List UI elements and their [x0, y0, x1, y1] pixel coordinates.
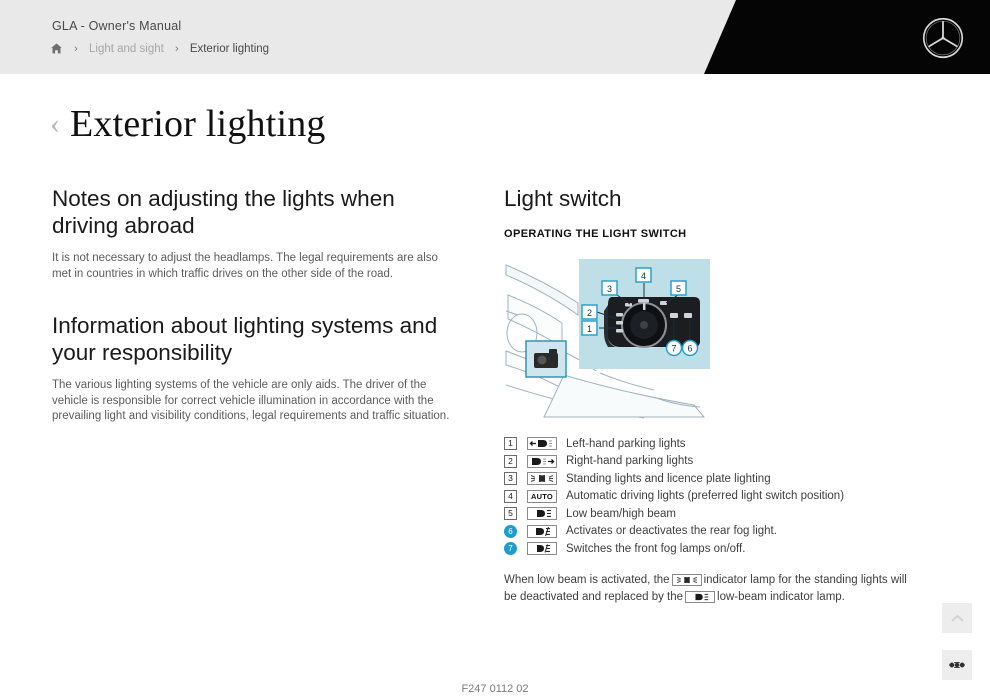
auto-label-icon: AUTO — [527, 490, 557, 503]
page-title: Exterior lighting — [70, 100, 326, 148]
standing-lights-icon — [527, 472, 557, 485]
callout-number-5: 5 — [504, 507, 517, 520]
low-beam-note: When low beam is activated, theindicator… — [504, 572, 914, 606]
callout-number-2: 2 — [504, 455, 517, 468]
legend-label-6: Activates or deactivates the rear fog li… — [566, 525, 777, 537]
feedback-button[interactable] — [942, 650, 972, 680]
left-content-column: Notes on adjusting the lights when drivi… — [52, 185, 454, 425]
legend-label-5: Low beam/high beam — [566, 508, 676, 520]
section-body-responsibility: The various lighting systems of the vehi… — [52, 378, 454, 425]
breadcrumb-item-exterior-lighting[interactable]: Exterior lighting — [190, 43, 269, 55]
left-parking-light-icon — [527, 437, 557, 450]
breadcrumb-separator-1: › — [63, 43, 89, 55]
figure-legend: 1 Left-hand parking lights 2 — [504, 435, 924, 558]
standing-lights-icon — [672, 574, 702, 586]
breadcrumb: › Light and sight › Exterior lighting — [50, 42, 269, 55]
legend-label-3: Standing lights and licence plate lighti… — [566, 473, 771, 485]
manual-page: GLA - Owner's Manual › Light and sight ›… — [0, 0, 990, 700]
svg-text:4: 4 — [641, 271, 646, 281]
home-icon[interactable] — [50, 42, 63, 55]
manual-title: GLA - Owner's Manual — [52, 19, 181, 33]
svg-text:7: 7 — [671, 344, 676, 354]
svg-text:2: 2 — [587, 308, 592, 318]
back-chevron-icon[interactable]: ‹ — [50, 102, 60, 146]
breadcrumb-item-light-and-sight[interactable]: Light and sight — [89, 43, 164, 55]
callout-number-4: 4 — [504, 490, 517, 503]
page-title-row: ‹ Exterior lighting — [50, 100, 326, 148]
subheading-operating-the-light-switch: OPERATING THE LIGHT SWITCH — [504, 228, 924, 240]
front-fog-light-icon — [527, 542, 557, 555]
chevron-up-icon — [951, 614, 964, 623]
legend-item-7: 7 Switches the front fog lamps on/off. — [504, 540, 924, 558]
legend-label-2: Right-hand parking lights — [566, 455, 693, 467]
svg-text:5: 5 — [676, 284, 681, 294]
low-beam-icon — [527, 507, 557, 520]
callout-number-6: 6 — [504, 525, 517, 538]
section-body-driving-abroad: It is not necessary to adjust the headla… — [52, 251, 454, 282]
callout-number-1: 1 — [504, 437, 517, 450]
note-text-part-3: low-beam indicator lamp. — [717, 591, 845, 603]
section-heading-driving-abroad: Notes on adjusting the lights when drivi… — [52, 185, 454, 239]
svg-text:3: 3 — [607, 284, 612, 294]
callout-number-3: 3 — [504, 472, 517, 485]
legend-label-7: Switches the front fog lamps on/off. — [566, 543, 745, 555]
section-heading-light-switch: Light switch — [504, 185, 924, 212]
legend-label-1: Left-hand parking lights — [566, 438, 686, 450]
right-parking-light-icon — [527, 455, 557, 468]
callout-number-7: 7 — [504, 542, 517, 555]
legend-item-6: 6 Activates or deactivates the rear fog … — [504, 523, 924, 541]
svg-text:1: 1 — [587, 324, 592, 334]
right-content-column: Light switch OPERATING THE LIGHT SWITCH — [504, 185, 924, 606]
legend-label-4: Automatic driving lights (preferred ligh… — [566, 490, 844, 502]
breadcrumb-separator-2: › — [164, 43, 190, 55]
legend-item-1: 1 Left-hand parking lights — [504, 435, 924, 453]
legend-item-3: 3 Standing lights and licence plate ligh… — [504, 470, 924, 488]
page-header: GLA - Owner's Manual › Light and sight ›… — [0, 0, 990, 74]
svg-text:6: 6 — [687, 344, 692, 354]
legend-item-4: 4 AUTO Automatic driving lights (preferr… — [504, 488, 924, 506]
glyph-icon — [948, 658, 966, 672]
section-heading-responsibility: Information about lighting systems and y… — [52, 312, 454, 366]
low-beam-icon — [685, 591, 715, 603]
legend-item-2: 2 Right-hand parking lights — [504, 453, 924, 471]
mercedes-benz-star-logo — [921, 16, 965, 60]
rear-fog-light-icon — [527, 525, 557, 538]
note-text-part-1: When low beam is activated, the — [504, 574, 670, 586]
scroll-to-top-button[interactable] — [942, 603, 972, 633]
light-switch-dashboard-illustration: 1 2 3 4 5 6 7 — [504, 255, 712, 420]
legend-item-5: 5 Low beam/high beam — [504, 505, 924, 523]
document-code: F247 0112 02 — [0, 683, 990, 695]
